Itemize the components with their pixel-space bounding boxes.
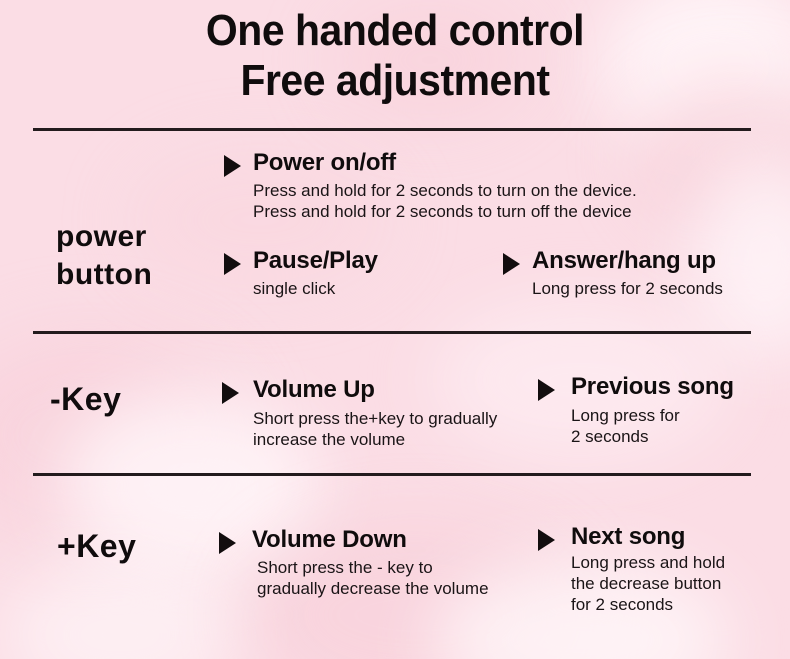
entry-body: Long press and hold the decrease button …: [571, 552, 725, 615]
entry-body: Short press the+key to gradually increas…: [253, 408, 497, 450]
entry-heading: Volume Down: [252, 527, 407, 553]
divider-bottom: [33, 473, 751, 476]
triangle-right-icon: [219, 532, 236, 554]
entry-body: Long press for 2 seconds: [571, 405, 734, 447]
section-label-power-button: power button: [56, 218, 152, 294]
section-label-plus-key: +Key: [57, 527, 136, 565]
entry-power-on-off: Power on/off Press and hold for 2 second…: [224, 150, 637, 222]
triangle-right-icon: [538, 529, 555, 551]
entry-heading: Previous song: [571, 374, 734, 400]
entry-heading: Power on/off: [253, 150, 396, 176]
entry-heading: Pause/Play: [253, 248, 378, 274]
entry-volume-up: Volume Up Short press the+key to gradual…: [222, 377, 497, 450]
triangle-right-icon: [222, 382, 239, 404]
page-title: One handed control Free adjustment: [0, 6, 790, 106]
entry-body: Short press the - key to gradually decre…: [257, 557, 489, 599]
entry-heading: Next song: [571, 524, 685, 550]
entry-heading: Volume Up: [253, 377, 375, 403]
section-label-minus-key: -Key: [50, 380, 121, 418]
triangle-right-icon: [538, 379, 555, 401]
entry-body: single click: [253, 278, 378, 299]
triangle-right-icon: [224, 155, 241, 177]
entry-heading: Answer/hang up: [532, 248, 716, 274]
entry-next-song: Next song Long press and hold the decrea…: [538, 524, 725, 615]
entry-pause-play: Pause/Play single click: [224, 248, 378, 299]
entry-body: Long press for 2 seconds: [532, 278, 723, 299]
entry-previous-song: Previous song Long press for 2 seconds: [538, 374, 734, 447]
triangle-right-icon: [503, 253, 520, 275]
title-line-2: Free adjustment: [28, 56, 763, 106]
divider-top: [33, 128, 751, 131]
entry-volume-down: Volume Down Short press the - key to gra…: [219, 527, 489, 599]
triangle-right-icon: [224, 253, 241, 275]
title-line-1: One handed control: [28, 6, 763, 56]
divider-middle: [33, 331, 751, 334]
entry-answer-hang-up: Answer/hang up Long press for 2 seconds: [503, 248, 723, 299]
instruction-poster: One handed control Free adjustment power…: [0, 0, 790, 659]
entry-body: Press and hold for 2 seconds to turn on …: [253, 180, 637, 222]
